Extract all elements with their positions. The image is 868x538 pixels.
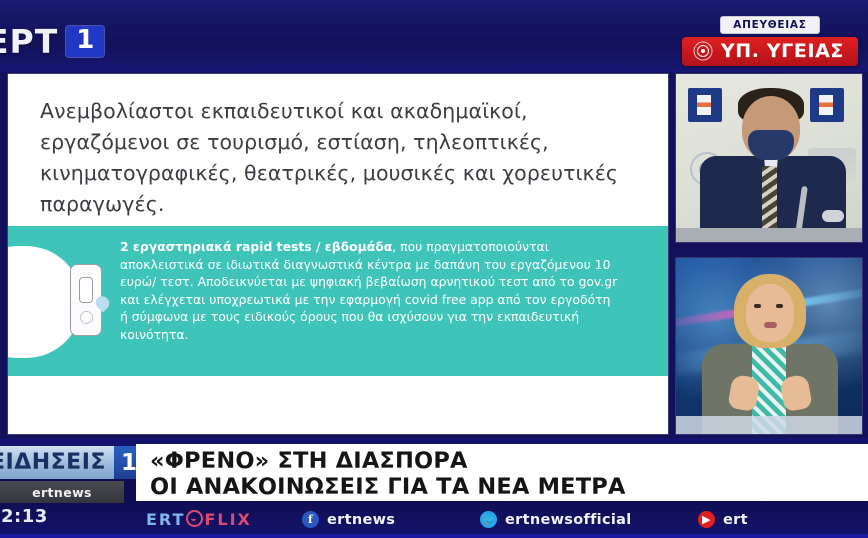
live-badge: ΑΠΕΥΘΕΙΑΣ ΥΠ. ΥΓΕΙΑΣ (682, 16, 858, 66)
channel-tab-label: ertnews (32, 485, 92, 500)
channel-name: ΕΡΤ (0, 22, 58, 61)
press-conference-feed (676, 74, 862, 242)
channel-logo: ΕΡΤ 1 (0, 22, 104, 61)
broadcast-signal-icon (692, 43, 714, 59)
social-youtube-handle: ert (723, 512, 748, 528)
ertflix-part2: FLIX (204, 510, 251, 529)
studio-anchor-feed (676, 258, 862, 434)
social-youtube[interactable]: ▶ ert (698, 511, 748, 528)
headline-line-1: «ΦΡΕΝΟ» ΣΤΗ ΔΙΑΣΠΟΡΑ (150, 448, 868, 474)
smile-icon (186, 510, 203, 527)
slide-main-text: Ανεμβολίαστοι εκπαιδευτικοί και ακαδημαϊ… (40, 96, 640, 220)
clock: 12:13 (0, 506, 48, 527)
bottom-edge (0, 534, 868, 538)
slide-callout-box: 2 εργαστηριακά rapid tests / εβδομάδα, π… (8, 226, 668, 376)
youtube-icon: ▶ (698, 511, 715, 528)
headline-line-2: ΟΙ ΑΝΑΚΟΙΝΩΣΕΙΣ ΓΙΑ ΤΑ ΝΕΑ ΜΕΤΡΑ (150, 474, 868, 500)
channel-tab: ertnews (0, 481, 124, 503)
slide-callout-lead: 2 εργαστηριακά rapid tests / εβδομάδα (120, 239, 392, 254)
facebook-icon: f (302, 511, 319, 528)
ertflix-part1: ERT (146, 510, 185, 529)
live-label: ΑΠΕΥΘΕΙΑΣ (720, 16, 819, 34)
slide-callout-text: 2 εργαστηριακά rapid tests / εβδομάδα, π… (120, 238, 620, 344)
social-facebook-handle: ertnews (327, 512, 395, 528)
presentation-slide: Ανεμβολίαστοι εκπαιδευτικοί και ακαδημαϊ… (8, 74, 668, 434)
social-twitter-handle: ertnewsofficial (505, 512, 631, 528)
broadcast-screen: ΕΡΤ 1 ΑΠΕΥΘΕΙΑΣ ΥΠ. ΥΓΕΙΑΣ Ανεμβολίαστοι… (0, 0, 868, 538)
headline-banner: «ΦΡΕΝΟ» ΣΤΗ ΔΙΑΣΠΟΡΑ ΟΙ ΑΝΑΚΟΙΝΩΣΕΙΣ ΓΙΑ… (136, 444, 868, 501)
program-badge-label: ΕΙΔΗΣΕΙΣ (0, 446, 114, 479)
twitter-icon: 🐦 (480, 511, 497, 528)
social-twitter[interactable]: 🐦 ertnewsofficial (480, 511, 631, 528)
live-source-label: ΥΠ. ΥΓΕΙΑΣ (721, 40, 844, 62)
channel-number: 1 (66, 26, 104, 57)
live-source-bar: ΥΠ. ΥΓΕΙΑΣ (682, 37, 858, 66)
ertflix-logo: ERTFLIX (146, 510, 252, 529)
social-facebook[interactable]: f ertnews (302, 511, 395, 528)
slide-callout-body: , που πραγματοποιούνται αποκλειστικά σε … (120, 239, 617, 342)
